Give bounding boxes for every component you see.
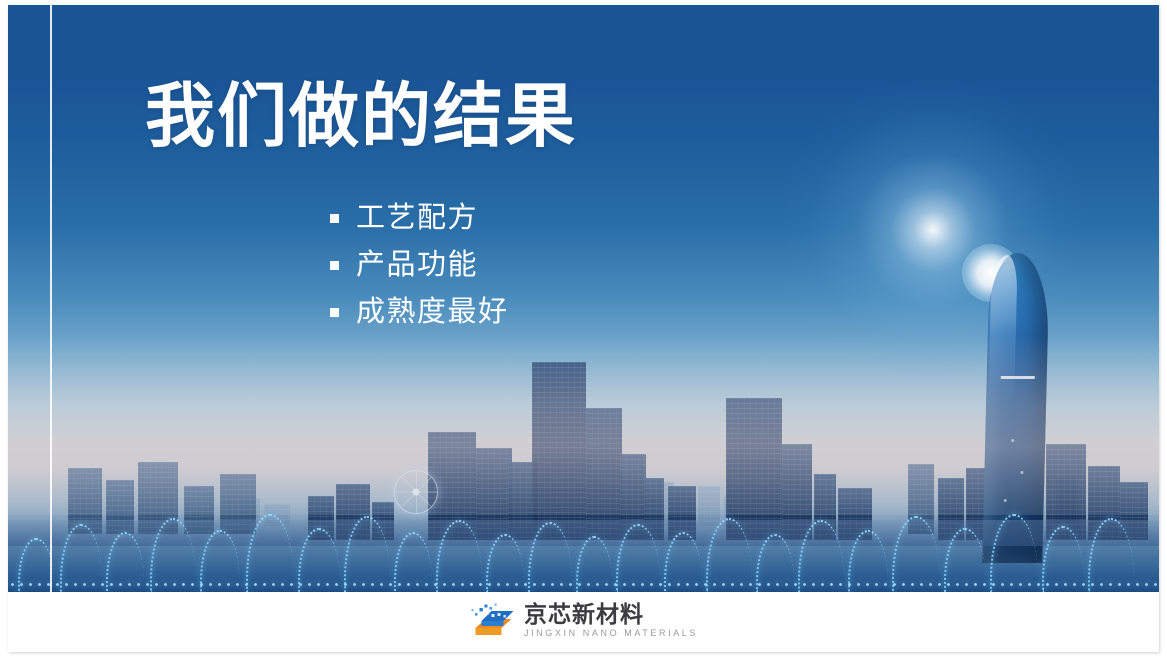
company-name-cn: 京芯新材料 xyxy=(524,602,698,626)
presentation-slide: 我们做的结果 工艺配方 产品功能 成熟度最好 xyxy=(8,5,1159,652)
ferris-wheel xyxy=(394,470,438,514)
tower-light xyxy=(1020,471,1023,474)
tower-sheen xyxy=(987,255,1017,435)
bullet-label: 工艺配方 xyxy=(356,204,478,233)
page-title: 我们做的结果 xyxy=(145,79,577,155)
company-name-en: JINGXIN NANO MATERIALS xyxy=(524,628,698,639)
tower-light xyxy=(1011,439,1014,442)
bullet-label: 成熟度最好 xyxy=(356,298,509,327)
list-item: 工艺配方 xyxy=(330,195,509,242)
list-item: 成熟度最好 xyxy=(330,289,509,336)
logo-wordmark: 京芯新材料 JINGXIN NANO MATERIALS xyxy=(524,602,698,639)
jingxin-pixel-swoosh-logo-mark xyxy=(469,602,515,638)
bullet-label: 产品功能 xyxy=(356,251,478,280)
waterfront xyxy=(8,520,1159,546)
left-vertical-rule xyxy=(50,5,52,592)
company-logo: 京芯新材料 JINGXIN NANO MATERIALS xyxy=(469,602,698,639)
square-bullet-icon xyxy=(330,261,339,270)
square-bullet-icon xyxy=(330,308,339,317)
tower-band xyxy=(1001,376,1035,379)
skyline-building-tall xyxy=(726,398,782,540)
network-arc xyxy=(18,538,54,592)
hero-skyscraper xyxy=(982,253,1050,563)
slide-footer: 京芯新材料 JINGXIN NANO MATERIALS xyxy=(8,592,1159,652)
tower-light xyxy=(1004,499,1007,502)
skyline-building-tall xyxy=(532,362,586,540)
network-dot-row xyxy=(8,583,1159,586)
list-item: 产品功能 xyxy=(330,242,509,289)
square-bullet-icon xyxy=(330,214,339,223)
bullet-list: 工艺配方 产品功能 成熟度最好 xyxy=(330,195,509,336)
